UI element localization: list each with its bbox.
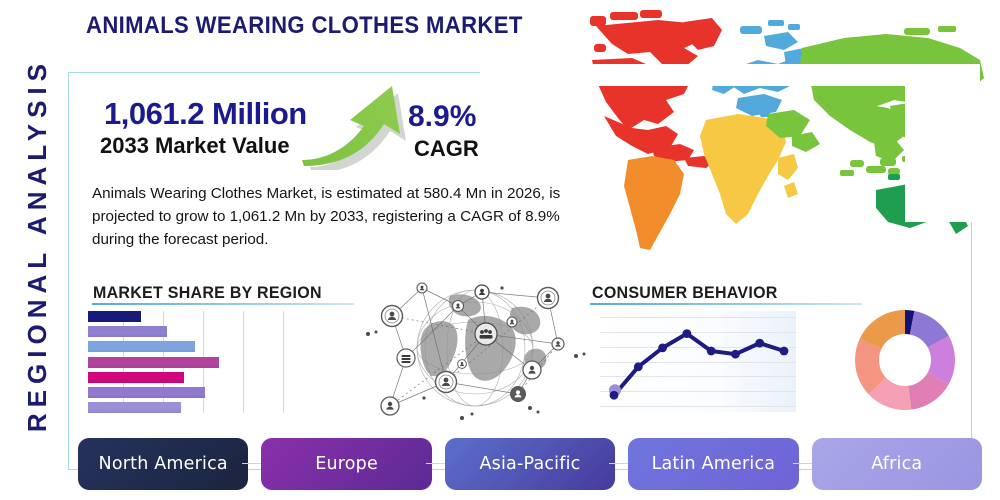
region-chip-africa[interactable]: Africa: [812, 438, 982, 490]
frame-right-mask: [905, 72, 975, 222]
bar-chart-gridline: [243, 311, 244, 413]
line-chart-series: [600, 311, 796, 412]
donut-segments: [855, 310, 955, 410]
region-chip-label: Latin America: [652, 454, 776, 474]
bar-chart-bar: [88, 341, 195, 352]
regional-analysis-side-label: REGIONAL ANALYSIS: [14, 45, 60, 445]
bar-fill: [88, 341, 195, 352]
line-chart-marker: [755, 339, 764, 348]
cagr-figure: 8.9%: [408, 100, 476, 134]
region-chip-north-america[interactable]: North America: [78, 438, 248, 490]
bar-chart-bar: [88, 326, 167, 337]
bar-fill: [88, 402, 181, 413]
region-chip-bar: North AmericaEuropeAsia-PacificLatin Ame…: [78, 438, 982, 490]
line-chart-marker: [707, 347, 716, 356]
bar-chart-bar: [88, 372, 184, 383]
region-chip-label: Europe: [315, 454, 378, 474]
bar-fill: [88, 311, 141, 322]
region-chip-label: Africa: [871, 454, 922, 474]
region-chip-latin-america[interactable]: Latin America: [628, 438, 798, 490]
line-chart-marker: [731, 350, 740, 359]
cagr-label: CAGR: [414, 136, 479, 162]
bar-chart-bar: [88, 357, 219, 368]
page-title: ANIMALS WEARING CLOTHES MARKET: [86, 12, 523, 40]
bar-fill: [88, 326, 167, 337]
side-label-text: REGIONAL ANALYSIS: [22, 58, 53, 432]
line-chart-marker: [682, 329, 691, 338]
market-value-label: 2033 Market Value: [100, 133, 290, 159]
infographic-canvas: REGIONAL ANALYSIS ANIMALS WEARING CLOTHE…: [0, 0, 1000, 500]
consumer-donut-chart: [855, 310, 955, 410]
bar-fill: [88, 372, 184, 383]
market-value-figure: 1,061.2 Million: [104, 96, 307, 132]
bar-fill: [88, 357, 219, 368]
bar-chart-bar: [88, 311, 141, 322]
line-chart-marker: [610, 391, 619, 400]
region-chip-label: Asia-Pacific: [479, 454, 580, 474]
line-chart-marker: [634, 362, 643, 371]
consumer-behavior-line-chart: [600, 311, 796, 412]
market-share-heading-rule: [92, 303, 354, 305]
consumer-behavior-heading-rule: [590, 303, 862, 305]
region-chip-europe[interactable]: Europe: [261, 438, 431, 490]
region-chip-label: North America: [99, 454, 228, 474]
line-chart-marker: [780, 347, 789, 356]
global-network-icon: [362, 272, 588, 424]
market-share-heading: MARKET SHARE BY REGION: [93, 283, 322, 303]
market-description: Animals Wearing Clothes Market, is estim…: [92, 182, 584, 251]
line-chart-marker: [658, 343, 667, 352]
bar-chart-bar: [88, 402, 181, 413]
bar-chart-gridline: [283, 311, 284, 413]
market-share-bar-chart: [88, 311, 286, 413]
growth-arrow-icon: [298, 84, 416, 170]
region-chip-asia-pacific[interactable]: Asia-Pacific: [445, 438, 615, 490]
consumer-behavior-heading: CONSUMER BEHAVIOR: [592, 283, 778, 303]
bar-chart-bar: [88, 387, 205, 398]
bar-fill: [88, 387, 205, 398]
